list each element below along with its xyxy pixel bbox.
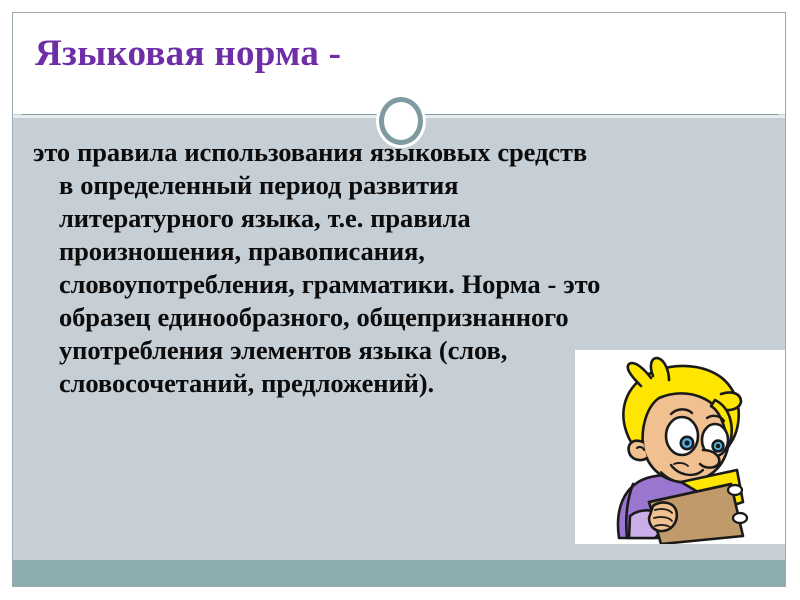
bottom-accent-bar [13,560,785,586]
illustration-container [575,350,786,544]
cartoon-boy-reading-book-image [575,350,786,544]
presentation-slide: Языковая норма - это правила использован… [12,12,786,587]
slide-body-text: это правила использования языковых средс… [33,136,607,400]
page-title: Языковая норма - [35,35,341,74]
